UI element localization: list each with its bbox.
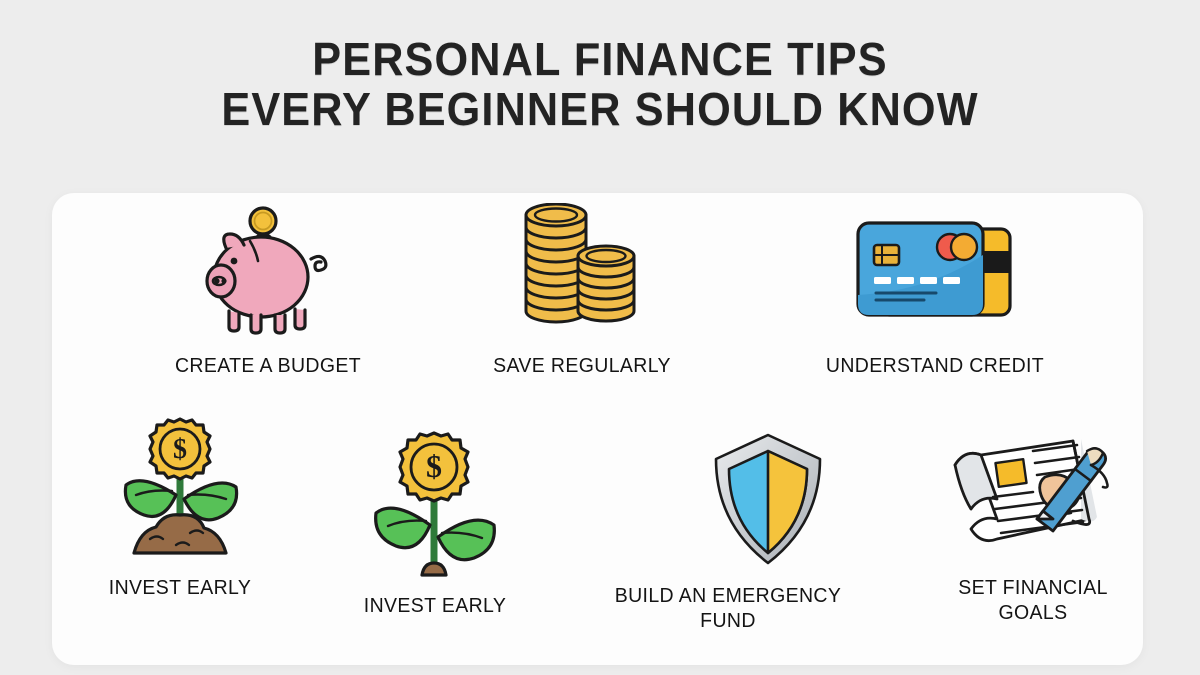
tip-label: INVEST EARLY [321,593,549,618]
tips-panel: CREATE A BUDGET [52,193,1143,665]
signing-document-icon [918,425,1148,561]
tip-card-set-financial-goals[interactable]: SET FINANCIAL GOALS [918,425,1148,625]
tip-label: INVEST EARLY [66,575,294,600]
tips-row-1: CREATE A BUDGET [52,203,1143,403]
tip-card-invest-early-1[interactable]: $ INVEST EARLY [60,425,300,600]
infographic-canvas: PERSONAL FINANCE TIPS EVERY BEGINNER SHO… [0,0,1200,675]
tip-card-build-emergency-fund[interactable]: BUILD AN EMERGENCY FUND [628,433,908,633]
tip-label: BUILD AN EMERGENCY FUND [614,583,842,633]
coin-stack-icon [462,203,702,339]
tip-label: SAVE REGULARLY [468,353,696,378]
shield-icon [628,433,908,569]
tip-label: UNDERSTAND CREDIT [802,353,1068,378]
tip-card-invest-early-2[interactable]: $ INVEST EARLY [315,443,555,618]
tips-row-2: $ INVEST EARLY [52,425,1143,657]
tip-label: CREATE A BUDGET [154,353,382,378]
piggy-bank-icon [148,203,388,339]
tip-card-understand-credit[interactable]: UNDERSTAND CREDIT [795,203,1075,378]
credit-card-icon [795,203,1075,339]
tip-card-create-a-budget[interactable]: CREATE A BUDGET [148,203,388,378]
tip-label: SET FINANCIAL GOALS [924,575,1143,625]
tip-card-save-regularly[interactable]: SAVE REGULARLY [462,203,702,378]
money-plant-icon: $ [60,425,300,561]
money-plant-icon: $ [315,443,555,579]
svg-text:$: $ [173,434,187,465]
svg-text:$: $ [426,448,442,484]
page-title: PERSONAL FINANCE TIPS EVERY BEGINNER SHO… [0,34,1200,134]
title-line-2: EVERY BEGINNER SHOULD KNOW [36,84,1164,134]
title-line-1: PERSONAL FINANCE TIPS [36,34,1164,84]
